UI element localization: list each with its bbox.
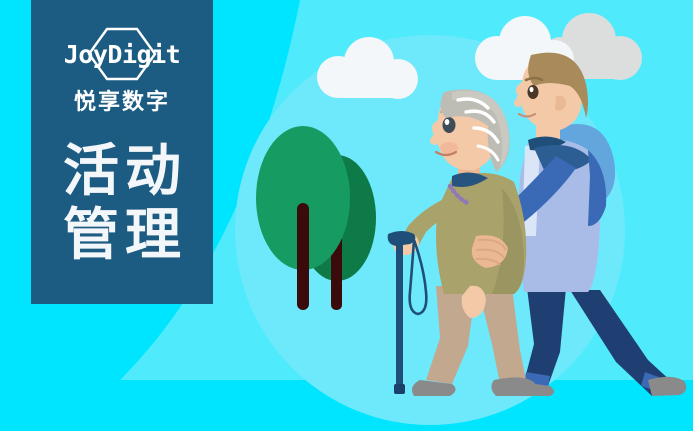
title-panel: JoyDigit 悦享数字 活动 管理	[31, 0, 213, 304]
elderly-back-shoe	[491, 377, 536, 396]
youth-eye	[528, 85, 539, 99]
page-title-line-1: 活动	[57, 139, 187, 203]
cane-tip	[394, 384, 405, 394]
cane-shaft	[396, 243, 403, 391]
elderly-eye	[443, 117, 456, 133]
elderly-eye-glint	[445, 119, 450, 125]
brand-logo: JoyDigit	[47, 26, 197, 82]
brand-wordmark: JoyDigit	[64, 42, 180, 67]
youth-eye-glint	[530, 87, 534, 92]
brand-chinese-name: 悦享数字	[74, 91, 170, 113]
youth-back-shoe	[648, 377, 686, 396]
brand-block: JoyDigit 悦享数字	[31, 26, 213, 113]
page-title: 活动 管理	[57, 139, 187, 267]
activity-management-banner: JoyDigit 悦享数字 活动 管理	[0, 0, 693, 431]
page-title-line-2: 管理	[57, 203, 187, 267]
